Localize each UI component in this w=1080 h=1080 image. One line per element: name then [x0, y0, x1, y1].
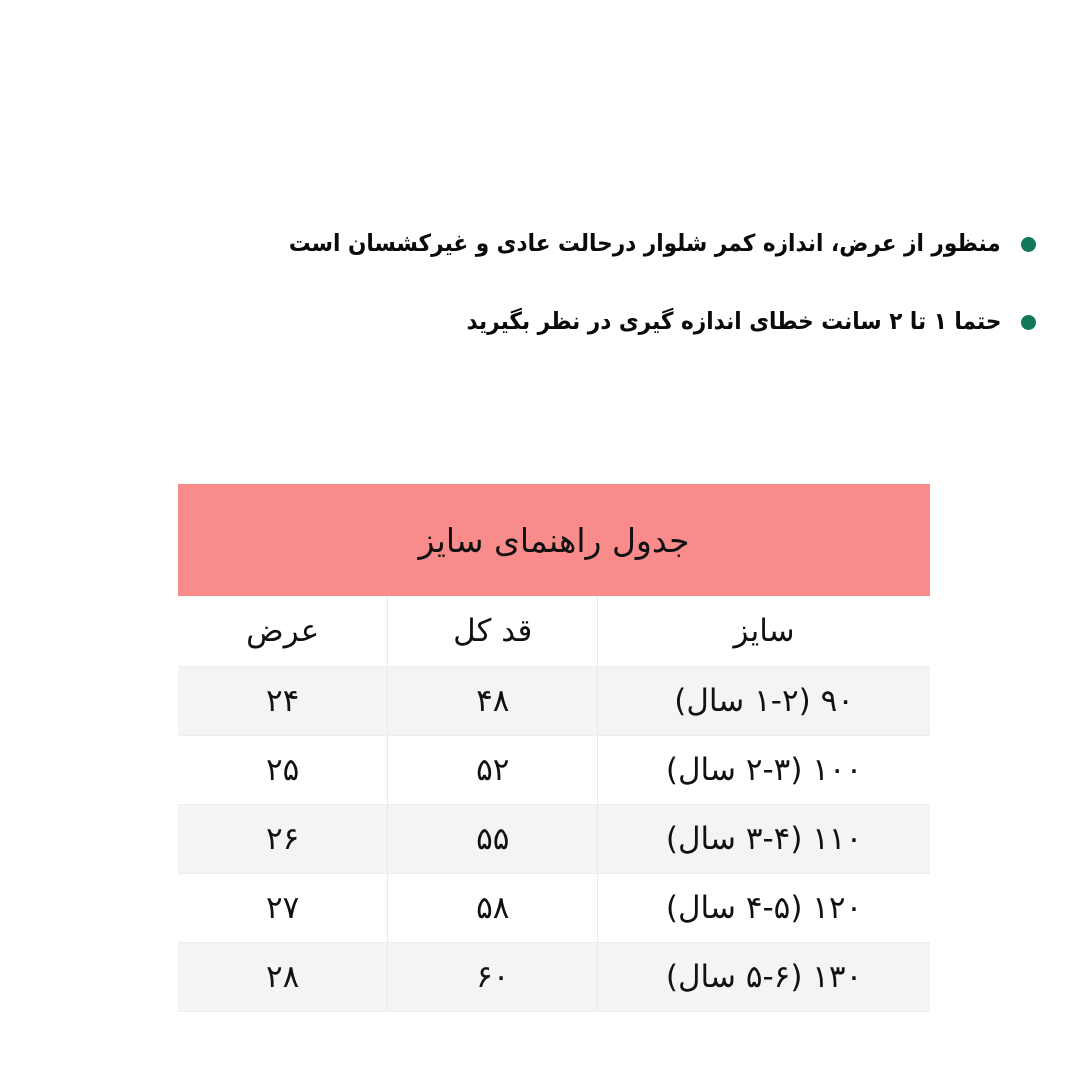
- table-row: ۱۳۰ (۵-۶ سال) ۶۰ ۲۸: [178, 943, 930, 1012]
- size-table-head: سایز قد کل عرض: [178, 596, 930, 667]
- table-row: ۱۱۰ (۳-۴ سال) ۵۵ ۲۶: [178, 805, 930, 874]
- cell-width: ۲۴: [178, 667, 388, 736]
- cell-width: ۲۷: [178, 874, 388, 943]
- table-row: ۱۲۰ (۴-۵ سال) ۵۸ ۲۷: [178, 874, 930, 943]
- cell-size: ۱۰۰ (۲-۳ سال): [598, 736, 930, 805]
- bullet-dot-icon: [1021, 237, 1036, 252]
- note-text: حتما ۱ تا ۲ سانت خطای اندازه گیری در نظر…: [466, 306, 1001, 338]
- note-text: منظور از عرض، اندازه کمر شلوار درحالت عا…: [289, 228, 1001, 260]
- table-header-row: سایز قد کل عرض: [178, 596, 930, 667]
- list-item: منظور از عرض، اندازه کمر شلوار درحالت عا…: [336, 228, 1036, 260]
- list-item: حتما ۱ تا ۲ سانت خطای اندازه گیری در نظر…: [336, 306, 1036, 338]
- size-guide-page: { "notes": { "items": [ { "bullet_color"…: [0, 0, 1080, 1080]
- column-header-length: قد کل: [388, 596, 598, 667]
- cell-size: ۱۲۰ (۴-۵ سال): [598, 874, 930, 943]
- size-table-body: ۹۰ (۱-۲ سال) ۴۸ ۲۴ ۱۰۰ (۲-۳ سال) ۵۲ ۲۵ ۱…: [178, 667, 930, 1012]
- cell-width: ۲۶: [178, 805, 388, 874]
- cell-size: ۹۰ (۱-۲ سال): [598, 667, 930, 736]
- bullet-dot-icon: [1021, 315, 1036, 330]
- size-table: سایز قد کل عرض ۹۰ (۱-۲ سال) ۴۸ ۲۴ ۱۰۰ (۲…: [178, 596, 930, 1012]
- size-table-title: جدول راهنمای سایز: [178, 484, 930, 596]
- cell-length: ۵۸: [388, 874, 598, 943]
- cell-length: ۴۸: [388, 667, 598, 736]
- table-row: ۱۰۰ (۲-۳ سال) ۵۲ ۲۵: [178, 736, 930, 805]
- cell-size: ۱۳۰ (۵-۶ سال): [598, 943, 930, 1012]
- cell-length: ۵۵: [388, 805, 598, 874]
- table-row: ۹۰ (۱-۲ سال) ۴۸ ۲۴: [178, 667, 930, 736]
- cell-size: ۱۱۰ (۳-۴ سال): [598, 805, 930, 874]
- cell-length: ۶۰: [388, 943, 598, 1012]
- size-guide-table-container: جدول راهنمای سایز سایز قد کل عرض ۹۰ (۱-۲…: [178, 484, 930, 1012]
- cell-width: ۲۵: [178, 736, 388, 805]
- column-header-width: عرض: [178, 596, 388, 667]
- notes-list: منظور از عرض، اندازه کمر شلوار درحالت عا…: [336, 228, 1036, 337]
- cell-width: ۲۸: [178, 943, 388, 1012]
- cell-length: ۵۲: [388, 736, 598, 805]
- column-header-size: سایز: [598, 596, 930, 667]
